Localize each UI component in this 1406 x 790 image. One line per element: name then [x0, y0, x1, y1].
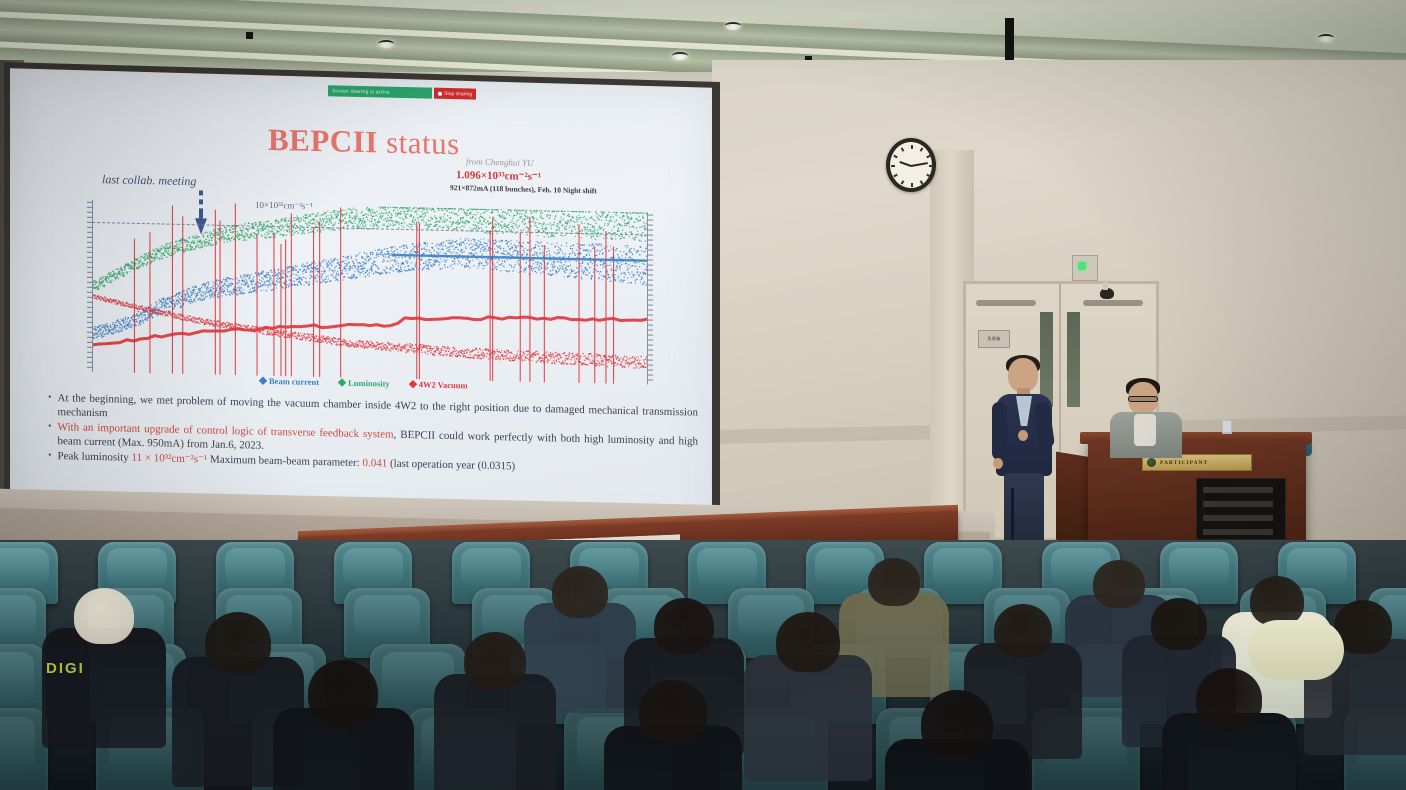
slide-credit: from Chenghui YU — [466, 156, 534, 168]
chart-tick — [87, 342, 93, 343]
legend-label: 4W2 Vacuum — [419, 379, 468, 390]
chart-tick — [647, 294, 653, 295]
peak-luminosity-value: 1.096×10³³cm⁻²s⁻¹ — [456, 168, 541, 183]
presenter-legs — [1004, 473, 1044, 541]
chart-tick — [647, 379, 653, 380]
audience-head — [921, 690, 993, 758]
bullet-dot-icon: • — [48, 420, 52, 448]
chart-tick — [87, 232, 93, 233]
bullet-dot-icon: • — [48, 391, 52, 419]
legend-marker-icon — [338, 378, 346, 386]
audience-fur-coat — [1248, 620, 1344, 680]
projection-screen: Screen sharing is active Stop sharing BE… — [10, 68, 712, 540]
chart-tick — [87, 362, 93, 363]
chart-tick — [87, 267, 93, 268]
chart-tick — [87, 332, 93, 333]
legend-label: Luminosity — [348, 378, 390, 389]
chart-tick — [87, 227, 93, 228]
chart-tick — [647, 264, 653, 265]
audience-head — [639, 680, 707, 744]
audience-member — [880, 690, 1034, 790]
audience-head — [308, 660, 378, 726]
ceiling-downlight — [1318, 34, 1334, 42]
chart-tick — [647, 254, 653, 255]
stop-sharing-button[interactable]: Stop sharing — [434, 88, 476, 100]
screen-share-toolbar[interactable]: Screen sharing is active Stop sharing — [328, 85, 476, 99]
slide-title-light: status — [378, 124, 460, 161]
chart-tick — [647, 324, 653, 325]
exit-led-icon — [1078, 262, 1086, 270]
chart-tick — [647, 339, 653, 340]
bullet-segment: 11 × 10³²cm⁻²s⁻¹ — [131, 452, 207, 466]
chart-tick — [87, 237, 93, 238]
chart-tick — [87, 367, 93, 368]
clock-minute-hand — [911, 162, 928, 167]
door-sign: 急救箱 — [978, 330, 1010, 348]
chart-tick — [87, 217, 93, 218]
chart-axes — [92, 200, 648, 385]
audience-head — [776, 612, 840, 672]
presenter-person — [992, 358, 1062, 540]
chart-tick — [647, 314, 653, 315]
chart-tick — [647, 354, 653, 355]
ceiling-mount — [246, 32, 253, 39]
chart-tick — [87, 212, 93, 213]
audience-member — [1158, 668, 1300, 790]
last-collab-meeting-label: last collab. meeting — [102, 172, 196, 189]
audience-member — [430, 632, 560, 790]
presenter-hand — [993, 458, 1003, 469]
audience-body — [744, 655, 872, 781]
legend-marker-icon — [408, 380, 416, 388]
bullet-segment: Peak luminosity — [58, 450, 132, 464]
chart-tick — [647, 259, 653, 260]
chart-tick — [87, 292, 93, 293]
presenter-head — [1008, 358, 1038, 392]
chart-tick — [87, 257, 93, 258]
chart-tick — [647, 344, 653, 345]
presenter-leg-gap — [1011, 488, 1014, 540]
chart-tick — [647, 269, 653, 270]
audience-head — [994, 604, 1052, 658]
security-camera-icon — [1100, 288, 1114, 299]
chart-tick — [87, 322, 93, 323]
legend-item-beam-current: Beam current — [260, 376, 319, 387]
audience-member — [600, 680, 746, 790]
chart-tick — [647, 244, 653, 245]
clock-hour-hand — [899, 161, 911, 167]
bullet-segment: 0.041 — [362, 457, 387, 470]
audience-seating-area — [0, 540, 1406, 790]
peak-run-conditions: 921×872mA (118 bunches), Feb. 10 Night s… — [450, 183, 597, 195]
audience-head — [1151, 598, 1207, 650]
chart-tick — [647, 349, 653, 350]
chart-tick — [647, 289, 653, 290]
chart-tick — [87, 317, 93, 318]
chart-tick — [87, 242, 93, 243]
audience-head — [205, 612, 271, 674]
ceiling-downlight — [725, 22, 741, 30]
audience-head — [868, 558, 920, 606]
podium-nameplate-text: PARTICIPANT — [1160, 460, 1208, 466]
chart-tick — [647, 334, 653, 335]
audience-member — [740, 612, 876, 790]
door-glass-panel — [1067, 312, 1080, 407]
record-dot-icon — [438, 91, 442, 95]
slide-title-bold: BEPCII — [268, 122, 378, 159]
chart-tick — [87, 202, 93, 203]
chart-tick — [647, 249, 653, 250]
equipment-rack — [1196, 478, 1286, 540]
water-cup — [1222, 420, 1232, 434]
slide-bullet-list: •At the beginning, we met problem of mov… — [48, 391, 698, 479]
ceiling-downlight — [378, 40, 394, 48]
chart-reference-line — [92, 222, 648, 236]
chart-tick — [87, 302, 93, 303]
chart-tick — [87, 297, 93, 298]
podium-seated-person — [1108, 382, 1188, 452]
chart-tick — [647, 239, 653, 240]
chart-tick — [647, 369, 653, 370]
legend-marker-icon — [259, 377, 267, 385]
bullet-dot-icon: • — [48, 449, 52, 463]
chart-tick — [647, 304, 653, 305]
beam-status-chart — [92, 200, 648, 385]
ceiling-downlight — [672, 52, 688, 60]
institution-logo-icon — [1147, 458, 1156, 467]
legend-item-4w2-vacuum: 4W2 Vacuum — [410, 379, 468, 390]
chart-tick — [647, 219, 653, 220]
chart-tick — [87, 287, 93, 288]
chart-tick — [87, 337, 93, 338]
chart-tick — [87, 352, 93, 353]
chart-tick — [647, 329, 653, 330]
audience-member — [268, 660, 418, 790]
audience-body — [434, 674, 556, 790]
eyeglasses-icon — [1128, 396, 1158, 402]
bullet-segment: At the beginning, we met problem of movi… — [58, 392, 698, 419]
chart-tick — [647, 319, 653, 320]
chart-tick — [647, 279, 653, 280]
exit-sign — [1072, 255, 1098, 281]
audience-head — [654, 598, 714, 654]
chart-tick — [87, 272, 93, 273]
chart-tick — [87, 247, 93, 248]
chart-tick — [647, 274, 653, 275]
stop-sharing-label: Stop sharing — [444, 90, 472, 97]
chart-tick — [87, 307, 93, 308]
chart-tick — [87, 312, 93, 313]
chart-tick — [647, 299, 653, 300]
chart-tick — [647, 359, 653, 360]
chart-tick — [87, 347, 93, 348]
chart-tick — [647, 229, 653, 230]
chart-tick — [87, 282, 93, 283]
lecture-hall-photo: 急救箱 Screen sharing is active Stop sharin… — [0, 0, 1406, 790]
audience-head — [1196, 668, 1262, 730]
screen-share-status: Screen sharing is active — [328, 85, 432, 98]
chart-tick — [87, 222, 93, 223]
slide-title: BEPCII status — [268, 122, 460, 162]
chart-tick — [87, 277, 93, 278]
audience-head — [552, 566, 608, 618]
presenter-hand — [1018, 430, 1028, 441]
chart-tick — [647, 309, 653, 310]
chart-tick — [87, 327, 93, 328]
bullet-segment: Maximum beam-beam parameter: — [207, 454, 362, 470]
wall-clock — [886, 138, 936, 192]
chart-tick — [647, 224, 653, 225]
chart-tick — [87, 262, 93, 263]
door-push-bar[interactable] — [976, 300, 1036, 306]
audience-head — [464, 632, 526, 690]
chart-tick — [647, 364, 653, 365]
chart-tick — [647, 374, 653, 375]
chart-tick — [87, 207, 93, 208]
bullet-segment: (last operation year (0.0315) — [387, 458, 515, 473]
presenter-left-arm — [992, 402, 1007, 460]
chart-tick — [647, 214, 653, 215]
legend-label: Beam current — [269, 376, 319, 387]
seated-inner-shirt — [1134, 414, 1156, 446]
chart-tick — [647, 284, 653, 285]
chart-tick — [87, 252, 93, 253]
chart-tick — [87, 357, 93, 358]
audience-head — [74, 588, 134, 644]
audience-body — [42, 628, 166, 748]
legend-item-luminosity: Luminosity — [339, 378, 390, 389]
door-push-bar[interactable] — [1083, 300, 1143, 306]
audience-head — [1250, 576, 1304, 626]
chart-tick — [647, 234, 653, 235]
jacket-text: DIGI — [46, 660, 112, 676]
